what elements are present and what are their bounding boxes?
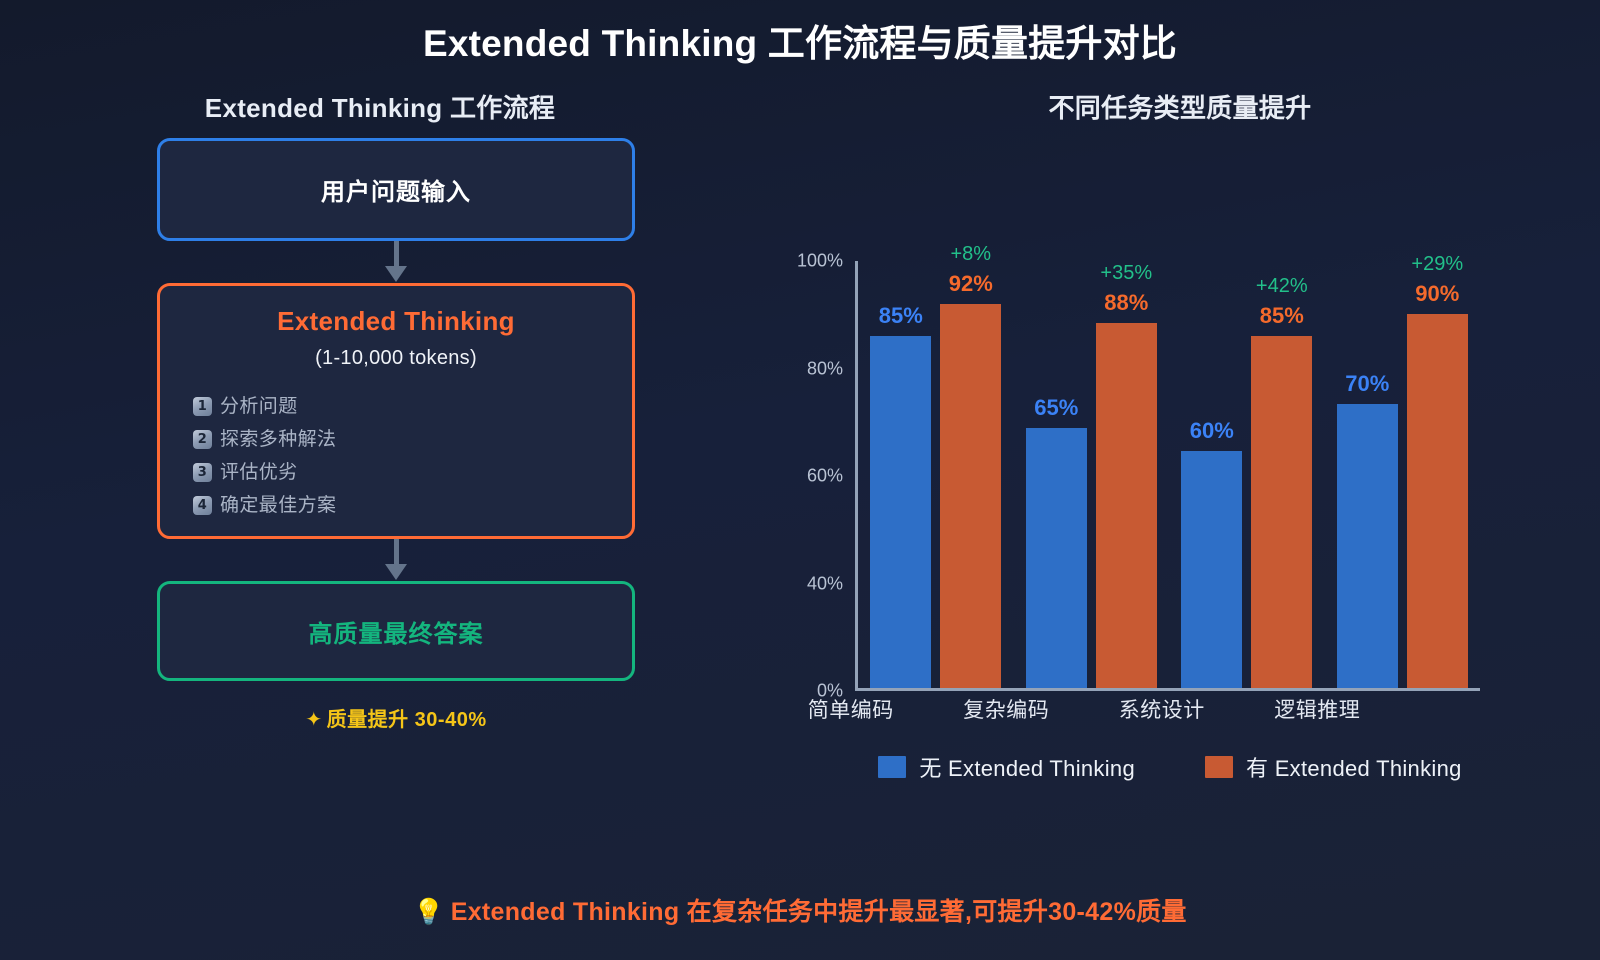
bar-value-label: 85% [879, 303, 923, 329]
arrow-stem [394, 539, 399, 565]
step-label: 分析问题 [220, 390, 298, 423]
flow-arrow-1 [157, 241, 635, 283]
keycap-number-icon: 4 [193, 496, 212, 515]
thinking-title: Extended Thinking [160, 306, 632, 337]
flow-note: ✦质量提升 30-40% [157, 703, 635, 732]
keycap-number-icon: 2 [193, 430, 212, 449]
footer-note: 💡Extended Thinking 在复杂任务中提升最显著,可提升30-42%… [0, 892, 1600, 928]
bar-delta-label: +29% [1411, 253, 1463, 276]
bar-with-thinking[interactable]: +29% 90% [1407, 314, 1468, 688]
bar-with-thinking[interactable]: +35% 88% [1096, 323, 1157, 688]
flow-note-text: 质量提升 30-40% [327, 709, 487, 731]
list-item: 1 分析问题 [193, 390, 632, 423]
flow-panel-title: Extended Thinking 工作流程 [0, 88, 760, 125]
y-axis-tick: 40% [807, 573, 843, 594]
step-label: 探索多种解法 [220, 423, 336, 456]
bar-delta-label: +8% [950, 243, 991, 266]
list-item: 3 评估优劣 [193, 456, 632, 489]
chart-legend: 无 Extended Thinking 有 Extended Thinking [770, 751, 1570, 783]
y-axis-tick: 100% [797, 251, 843, 272]
bar-with-thinking[interactable]: +8% 92% [940, 304, 1001, 688]
bar-value-label: 85% [1260, 303, 1304, 329]
flow-node-input: 用户问题输入 [157, 138, 635, 241]
bar-with-thinking[interactable]: +42% 85% [1251, 336, 1312, 688]
chart-panel-title: 不同任务类型质量提升 [760, 88, 1600, 125]
bar-group: 70% +29% 90% [1325, 261, 1481, 688]
bar-no-thinking[interactable]: 65% [1026, 428, 1087, 688]
chart-panel: 不同任务类型质量提升 100% 80% 60% 40% 0% 85% +8% [760, 68, 1600, 858]
bar-group: 60% +42% 85% [1169, 261, 1325, 688]
bar-group: 85% +8% 92% [858, 261, 1014, 688]
y-axis-tick: 60% [807, 466, 843, 487]
bar-delta-label: +42% [1256, 275, 1308, 298]
flow-node-thinking: Extended Thinking (1-10,000 tokens) 1 分析… [157, 283, 635, 539]
chart-bar-groups: 85% +8% 92% 65% +35% 88% [858, 261, 1480, 688]
legend-item-with-thinking[interactable]: 有 Extended Thinking [1205, 751, 1462, 783]
keycap-number-icon: 3 [193, 463, 212, 482]
y-axis-tick: 80% [807, 358, 843, 379]
x-axis-tick: 复杂编码 [929, 694, 1085, 724]
legend-label: 无 Extended Thinking [919, 751, 1135, 783]
panels-container: Extended Thinking 工作流程 用户问题输入 Extended T… [0, 68, 1600, 858]
bar-no-thinking[interactable]: 70% [1337, 404, 1398, 688]
flow-diagram: 用户问题输入 Extended Thinking (1-10,000 token… [157, 138, 635, 732]
flow-node-answer: 高质量最终答案 [157, 581, 635, 681]
x-axis-tick: 逻辑推理 [1240, 694, 1396, 724]
lightbulb-icon: 💡 [413, 897, 444, 926]
footer-text: Extended Thinking 在复杂任务中提升最显著,可提升30-42%质… [451, 898, 1187, 926]
bar-value-label: 90% [1415, 281, 1459, 307]
step-label: 评估优劣 [220, 456, 298, 489]
list-item: 2 探索多种解法 [193, 423, 632, 456]
flow-panel: Extended Thinking 工作流程 用户问题输入 Extended T… [0, 68, 760, 858]
bar-group: 65% +35% 88% [1014, 261, 1170, 688]
page-title: Extended Thinking 工作流程与质量提升对比 [0, 0, 1600, 68]
legend-label: 有 Extended Thinking [1246, 751, 1462, 783]
arrow-head-icon [385, 564, 407, 580]
chart-plot-area: 100% 80% 60% 40% 0% 85% +8% 92% [855, 261, 1480, 691]
flow-node-answer-label: 高质量最终答案 [309, 614, 484, 649]
flow-node-input-label: 用户问题输入 [321, 172, 471, 207]
legend-swatch-icon [878, 756, 906, 778]
flow-arrow-2 [157, 539, 635, 581]
bar-delta-label: +35% [1100, 262, 1152, 285]
thinking-steps-list: 1 分析问题 2 探索多种解法 3 评估优劣 4 确定最佳方案 [160, 390, 632, 522]
arrow-stem [394, 241, 399, 267]
list-item: 4 确定最佳方案 [193, 489, 632, 522]
x-axis-tick: 系统设计 [1084, 694, 1240, 724]
x-axis-labels: 简单编码 复杂编码 系统设计 逻辑推理 [773, 694, 1395, 724]
bar-chart: 100% 80% 60% 40% 0% 85% +8% 92% [770, 156, 1570, 776]
bar-value-label: 60% [1190, 418, 1234, 444]
legend-item-no-thinking[interactable]: 无 Extended Thinking [878, 751, 1135, 783]
bar-no-thinking[interactable]: 60% [1181, 451, 1242, 688]
x-axis-line [855, 688, 1480, 691]
bar-value-label: 92% [949, 271, 993, 297]
keycap-number-icon: 1 [193, 397, 212, 416]
bar-value-label: 88% [1104, 290, 1148, 316]
step-label: 确定最佳方案 [220, 489, 336, 522]
bar-no-thinking[interactable]: 85% [870, 336, 931, 688]
x-axis-tick: 简单编码 [773, 694, 929, 724]
bar-value-label: 70% [1345, 371, 1389, 397]
sparkles-icon: ✦ [305, 707, 322, 731]
bar-value-label: 65% [1034, 395, 1078, 421]
thinking-subtitle: (1-10,000 tokens) [160, 347, 632, 370]
legend-swatch-icon [1205, 756, 1233, 778]
arrow-head-icon [385, 266, 407, 282]
